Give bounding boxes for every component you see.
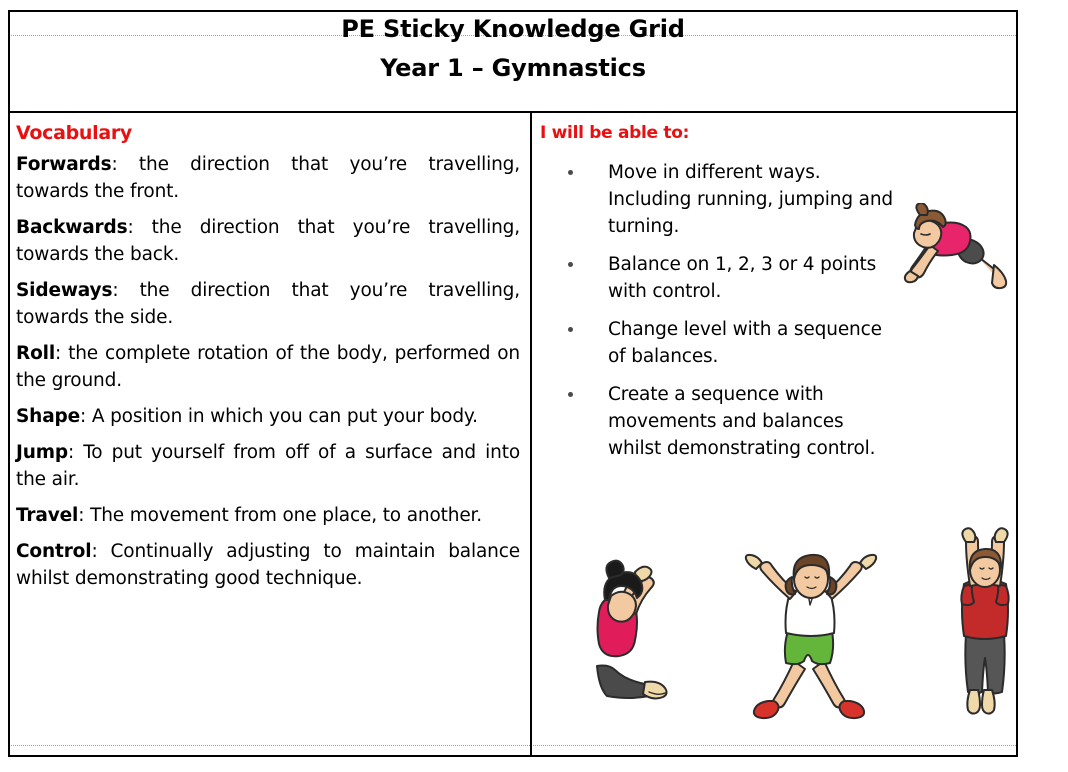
vocabulary-term: Travel (16, 505, 78, 526)
bullet-icon (568, 392, 573, 397)
vocabulary-entry: Jump: To put yourself from off of a surf… (16, 439, 520, 493)
vocabulary-definition: : The movement from one place, to anothe… (78, 505, 482, 526)
knowledge-grid-table: PE Sticky Knowledge Grid Year 1 – Gymnas… (8, 10, 1018, 757)
vocabulary-entry: Backwards: the direction that you’re tra… (16, 214, 520, 268)
vocabulary-term: Jump (16, 442, 68, 463)
grid-body-row: Vocabulary Forwards: the direction that … (10, 113, 1016, 755)
objective-item: Create a sequence with movements and bal… (540, 381, 900, 462)
objective-text: Create a sequence with movements and bal… (608, 384, 875, 459)
vocabulary-heading: Vocabulary (16, 121, 520, 145)
vocabulary-entry: Sideways: the direction that you’re trav… (16, 277, 520, 331)
vocabulary-column: Vocabulary Forwards: the direction that … (10, 113, 532, 755)
objectives-list: Move in different ways. Including runnin… (540, 159, 900, 462)
vocabulary-term: Roll (16, 343, 55, 364)
vocabulary-definition: : A position in which you can put your b… (80, 406, 478, 427)
vocabulary-list: Forwards: the direction that you’re trav… (16, 151, 520, 592)
objectives-column: I will be able to: Move in different way… (532, 113, 1016, 755)
page-title: PE Sticky Knowledge Grid (10, 12, 1016, 44)
vocabulary-definition: : Continually adjusting to maintain bala… (16, 541, 520, 589)
objective-text: Change level with a sequence of balances… (608, 319, 882, 367)
vocabulary-entry: Roll: the complete rotation of the body,… (16, 340, 520, 394)
grid-header-row: PE Sticky Knowledge Grid Year 1 – Gymnas… (10, 12, 1016, 113)
vocabulary-entry: Shape: A position in which you can put y… (16, 403, 520, 430)
vocabulary-term: Control (16, 541, 91, 562)
vocabulary-definition: : To put yourself from off of a surface … (16, 442, 520, 490)
vocabulary-entry: Forwards: the direction that you’re trav… (16, 151, 520, 205)
objective-item: Change level with a sequence of balances… (540, 316, 900, 370)
vocabulary-term: Forwards (16, 154, 111, 175)
bullet-icon (568, 170, 573, 175)
bullet-icon (568, 262, 573, 267)
page-subtitle: Year 1 – Gymnastics (10, 44, 1016, 83)
objective-item: Move in different ways. Including runnin… (540, 159, 900, 240)
vocabulary-entry: Control: Continually adjusting to mainta… (16, 538, 520, 592)
objective-text: Balance on 1, 2, 3 or 4 points with cont… (608, 254, 876, 302)
vocabulary-entry: Travel: The movement from one place, to … (16, 502, 520, 529)
bullet-icon (568, 327, 573, 332)
vocabulary-term: Backwards (16, 217, 127, 238)
vocabulary-definition: : the complete rotation of the body, per… (16, 343, 520, 391)
objectives-heading: I will be able to: (540, 121, 1008, 145)
objective-text: Move in different ways. Including runnin… (608, 162, 893, 237)
vocabulary-term: Sideways (16, 280, 112, 301)
vocabulary-term: Shape (16, 406, 80, 427)
objective-item: Balance on 1, 2, 3 or 4 points with cont… (540, 251, 900, 305)
